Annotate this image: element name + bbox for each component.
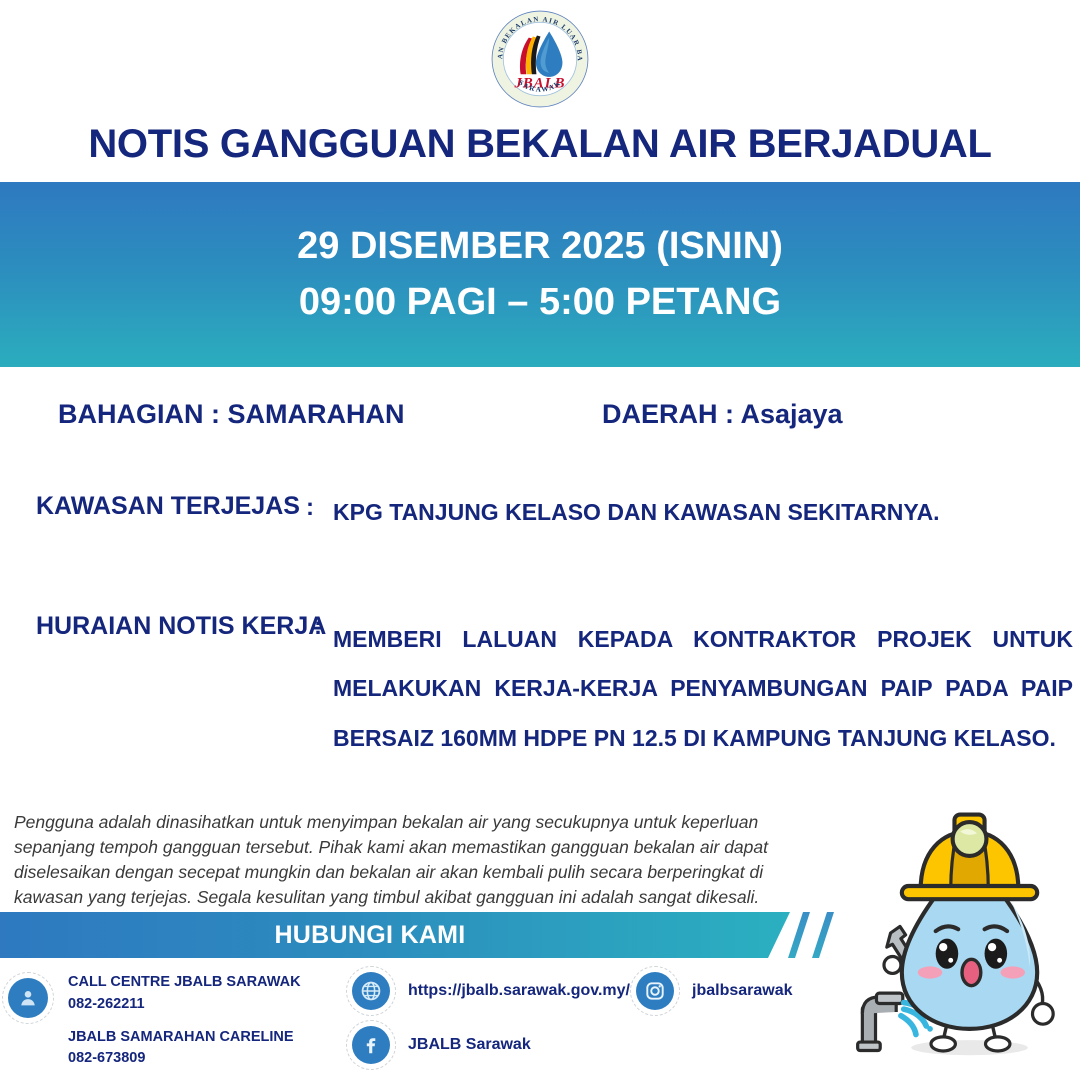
page-title: NOTIS GANGGUAN BEKALAN AIR BERJADUAL [0, 122, 1080, 167]
instagram-icon [636, 972, 674, 1010]
facebook-block[interactable]: JBALB Sarawak [352, 1026, 531, 1064]
decorative-stripe-1 [788, 912, 810, 958]
call-centre-number[interactable]: 082-262211 [68, 994, 301, 1016]
outage-date: 29 DISEMBER 2025 (ISNIN) [297, 219, 783, 274]
works-description-label: HURAIAN NOTIS KERJA [36, 612, 326, 641]
works-line-2: MELAKUKAN KERJA-KERJA PENYAMBUNGAN PAIP … [333, 664, 1073, 713]
disclaimer-text: Pengguna adalah dinasihatkan untuk menyi… [14, 810, 794, 909]
works-description-value: MEMBERI LALUAN KEPADA KONTRAKTOR PROJEK … [333, 615, 1073, 763]
facebook-handle[interactable]: JBALB Sarawak [408, 1036, 531, 1054]
date-time-banner: 29 DISEMBER 2025 (ISNIN) 09:00 PAGI – 5:… [0, 182, 1080, 367]
district-label: DAERAH : Asajaya [602, 399, 843, 430]
works-description-colon: : [314, 613, 322, 641]
division-label: BAHAGIAN : SAMARAHAN [58, 399, 404, 430]
logo-container: JBALB JABATAN BEKALAN AIR LUAR BANDAR SA… [0, 8, 1080, 116]
instagram-handle[interactable]: jbalbsarawak [692, 982, 793, 1000]
careline-number[interactable]: 082-673809 [68, 1048, 301, 1070]
works-line-1: MEMBERI LALUAN KEPADA KONTRAKTOR PROJEK … [333, 615, 1073, 664]
outage-time: 09:00 PAGI – 5:00 PETANG [299, 275, 781, 330]
contact-bar-label: HUBUNGI KAMI [0, 912, 740, 958]
call-centre-name: CALL CENTRE JBALB SARAWAK [68, 972, 301, 994]
affected-area-value: KPG TANJUNG KELASO DAN KAWASAN SEKITARNY… [333, 499, 940, 526]
call-centre-text: CALL CENTRE JBALB SARAWAK 082-262211 JBA… [68, 972, 301, 1070]
website-url[interactable]: https://jbalb.sarawak.gov.my/ [408, 982, 630, 1000]
careline-name: JBALB SAMARAHAN CARELINE [68, 1027, 301, 1049]
jbalb-logo: JBALB JABATAN BEKALAN AIR LUAR BANDAR SA… [489, 8, 591, 110]
website-block[interactable]: https://jbalb.sarawak.gov.my/ [352, 972, 630, 1010]
person-icon [8, 978, 48, 1018]
globe-icon [352, 972, 390, 1010]
facebook-icon [352, 1026, 390, 1064]
mascot-illustration [848, 792, 1076, 1074]
call-centre-block: CALL CENTRE JBALB SARAWAK 082-262211 JBA… [8, 972, 301, 1070]
decorative-stripe-2 [812, 912, 834, 958]
hard-hat-icon [902, 815, 1037, 900]
works-line-3: BERSAIZ 160MM HDPE PN 12.5 DI KAMPUNG TA… [333, 714, 1073, 763]
instagram-block[interactable]: jbalbsarawak [636, 972, 793, 1010]
affected-area-label: KAWASAN TERJEJAS [36, 492, 300, 521]
affected-area-colon: : [306, 494, 314, 522]
